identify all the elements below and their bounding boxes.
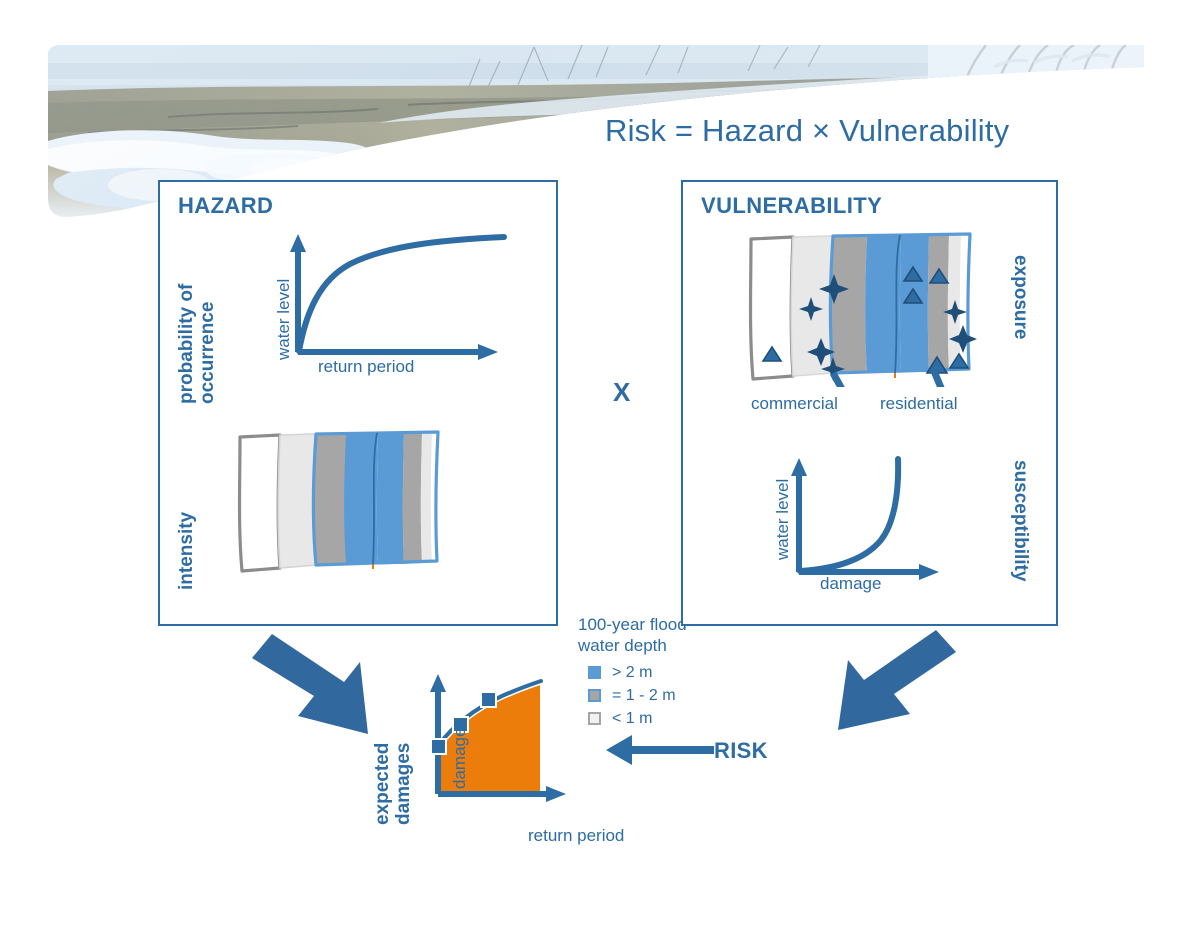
hazard-chart-x-axis-label: return period [318, 357, 414, 377]
arrow-hazard-to-risk-icon [248, 628, 378, 740]
hazard-chart-y-axis-label: water level [274, 279, 294, 360]
hazard-side-label-intensity: intensity [176, 512, 197, 590]
map-flood-depth [232, 427, 444, 577]
panel-vulnerability-title: VULNERABILITY [701, 193, 882, 219]
hazard-side-label-probability-line2: occurrence [197, 302, 218, 404]
chart-hazard-frequency-curve [258, 222, 533, 362]
risk-marker [481, 692, 496, 707]
diagram-canvas: Risk = Hazard × Vulnerability HAZARD pro… [0, 0, 1200, 927]
risk-annotation-label: RISK [714, 738, 768, 764]
vulnerability-side-label-exposure: exposure [1010, 255, 1031, 339]
map-exposure [741, 227, 981, 387]
page-title-risk-equation: Risk = Hazard × Vulnerability [605, 113, 1009, 149]
risk-side-label-expected-damages: expected damages [372, 743, 415, 825]
panel-vulnerability: VULNERABILITY exposure susceptibility [681, 180, 1058, 626]
susceptibility-chart-y-axis-label: water level [773, 479, 793, 560]
vulnerability-side-label-susceptibility: susceptibility [1010, 460, 1031, 581]
multiply-operator: X [613, 377, 630, 408]
risk-chart-x-axis-label: return period [528, 826, 624, 846]
map-callout-commercial: commercial [751, 394, 838, 414]
chart-susceptibility-damage-curve [759, 444, 989, 584]
legend-title-line2: water depth [578, 636, 667, 655]
map-callout-residential: residential [880, 394, 958, 414]
arrow-vulnerability-to-risk-icon [828, 626, 960, 738]
risk-chart-y-axis-label: damage [450, 728, 470, 789]
hazard-side-label-probability-line1: probability of [176, 284, 197, 404]
hazard-side-label-probability: probability of occurrence [176, 284, 219, 404]
susceptibility-chart-x-axis-label: damage [820, 574, 881, 594]
legend-title-line1: 100-year flood [578, 615, 687, 634]
panel-hazard-title: HAZARD [178, 193, 273, 219]
risk-marker [431, 739, 446, 754]
risk-side-label-line2: damages [393, 743, 414, 825]
panel-hazard: HAZARD probability of occurrence intensi… [158, 180, 558, 626]
risk-side-label-line1: expected [372, 743, 393, 825]
risk-pointer-arrow-icon [604, 730, 714, 770]
